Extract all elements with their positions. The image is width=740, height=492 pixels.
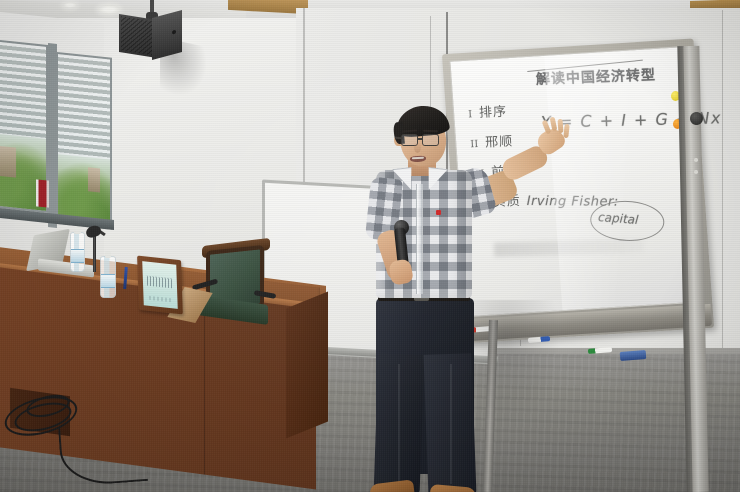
glasses-lens-right — [422, 134, 439, 146]
speaker-face — [152, 10, 182, 60]
bottle-label-1 — [71, 249, 84, 263]
presenter — [352, 104, 542, 492]
bottle-cap-1 — [74, 227, 80, 234]
water-bottle-2[interactable] — [100, 256, 116, 298]
name-placard-text — [147, 276, 173, 289]
whiteboard-height-knob[interactable] — [690, 112, 703, 125]
presenter-nose — [414, 142, 421, 153]
glasses-bridge — [418, 138, 423, 140]
name-placard[interactable] — [137, 256, 183, 315]
finger — [558, 119, 564, 133]
whiteboard-title: 解读中国经济转型 — [535, 64, 656, 88]
desk-microphone-pole — [93, 234, 96, 272]
water-bottle-1[interactable] — [70, 232, 85, 272]
name-placard-paper — [142, 261, 178, 309]
window-mullion — [48, 43, 57, 228]
window-right — [56, 52, 112, 230]
building-exterior-2 — [88, 167, 100, 192]
window-blind-right[interactable] — [58, 54, 110, 163]
lapel-pin-icon — [436, 210, 441, 215]
whiteboard-glare — [544, 50, 660, 311]
sill-object-red-box — [36, 179, 49, 207]
stand-screw-2 — [694, 170, 698, 174]
whiteboard-note-circled: capital — [598, 210, 639, 227]
speaker-grille — [121, 16, 155, 55]
name-placard-subtext — [149, 296, 171, 302]
podium-side-panel — [286, 292, 328, 439]
bottle-cap-2 — [105, 251, 112, 258]
downlight-icon-2 — [63, 2, 77, 8]
window-blind-left[interactable] — [0, 41, 46, 142]
wall-seam-1 — [303, 8, 305, 188]
bottle-label-2 — [101, 274, 115, 288]
downlight-icon — [98, 5, 120, 14]
building-exterior — [0, 146, 16, 178]
shirt-placket — [416, 184, 423, 294]
trouser-crease-right — [450, 364, 452, 484]
trouser-crease-left — [398, 364, 400, 484]
classroom-photo: 解读中国经济转型 Y = C + I + G + Nx I 排序 II 邢顺 I… — [0, 0, 740, 492]
stand-screw-1 — [694, 158, 698, 162]
